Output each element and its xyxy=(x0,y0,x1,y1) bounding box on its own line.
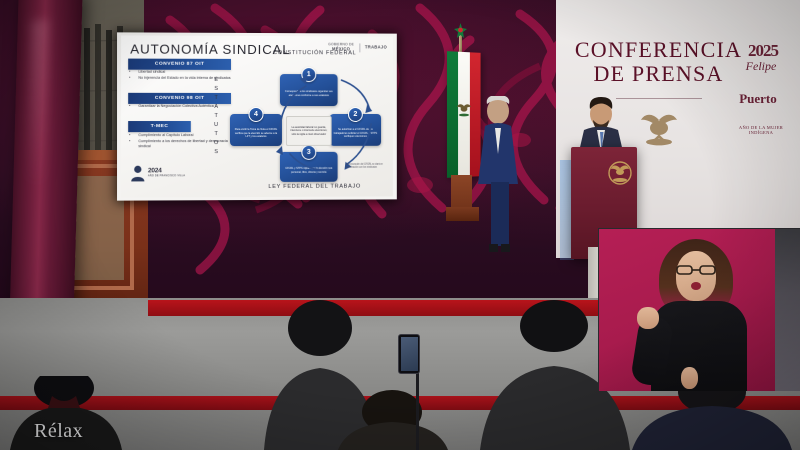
block-heading-convenio-87: CONVENIO 87 OIT xyxy=(128,59,231,71)
standing-official-figure xyxy=(475,96,523,254)
year-name-line1: Felipe xyxy=(732,60,790,92)
audience-member-front xyxy=(330,390,460,450)
interpreter-resting-hand xyxy=(681,367,698,389)
slide-content: AUTONOMÍA SINDICAL GOBIERNO DE MÉXICO TR… xyxy=(121,35,393,197)
estatutos-letter: A xyxy=(214,103,219,112)
podium-eagle-emblem-icon xyxy=(607,161,633,185)
estatutos-letter: S xyxy=(214,85,219,94)
estatutos-letter: T xyxy=(214,94,219,103)
press-title: CONFERENCIA DE PRENSA xyxy=(556,38,761,86)
estatutos-letter: U xyxy=(214,121,219,130)
estatutos-letter: E xyxy=(214,76,219,85)
badge-text: 2024 AÑO DE FRANCISCO VILLA xyxy=(148,168,185,177)
slide-footnote: La renovación del CFCRL se dará en coord… xyxy=(346,164,389,170)
flag-finial-icon xyxy=(452,22,469,39)
estatutos-letter: T xyxy=(214,112,219,121)
mexican-eagle-emblem-icon xyxy=(634,106,684,148)
maroon-curtain xyxy=(9,0,82,324)
commemorative-year-badge: 2025 Felipe Puerto AÑO DE LA MUJER INDÍG… xyxy=(732,42,794,156)
estatutos-letter: S xyxy=(214,148,219,157)
phone-on-tripod[interactable] xyxy=(398,334,420,374)
cycle-top-label: CONSTITUCIÓN FEDERAL xyxy=(240,50,389,57)
badge-caption: AÑO DE FRANCISCO VILLA xyxy=(148,175,185,178)
presentation-screen: AUTONOMÍA SINDICAL GOBIERNO DE MÉXICO TR… xyxy=(117,32,397,200)
jacket-text-relax: Rélax xyxy=(34,420,83,443)
estatutos-letter: T xyxy=(214,130,219,139)
cycle-arrows-icon xyxy=(222,66,391,191)
interpreter-mouth xyxy=(687,281,705,291)
broadcast-frame: CONFERENCIA DE PRENSA 2025 Felipe Puerto… xyxy=(0,0,800,450)
estatutos-vertical-label: E S T A T U T O S xyxy=(214,76,219,158)
year-subtitle: AÑO DE LA MUJER INDÍGENA xyxy=(732,126,790,156)
inset-background-strip xyxy=(775,229,800,391)
block-heading-tmec: T-MEC xyxy=(128,121,191,132)
year-badge-2024: 2024 AÑO DE FRANCISCO VILLA xyxy=(130,164,185,181)
estatutos-letter: O xyxy=(214,139,219,148)
sign-language-inset xyxy=(598,228,800,391)
press-title-line1: CONFERENCIA xyxy=(556,38,761,62)
glasses-icon xyxy=(675,265,717,275)
curtain-highlight xyxy=(27,20,48,185)
year-name-line2: Puerto xyxy=(732,92,784,124)
press-title-line2: DE PRENSA xyxy=(556,62,761,86)
flag-eagle-emblem-icon xyxy=(455,101,473,117)
interpreter-face xyxy=(676,251,716,301)
year-value: 2025 xyxy=(732,42,794,60)
portrait-icon xyxy=(130,164,145,181)
phone-screen xyxy=(401,337,418,371)
interpreter-signing-hand xyxy=(637,307,659,329)
